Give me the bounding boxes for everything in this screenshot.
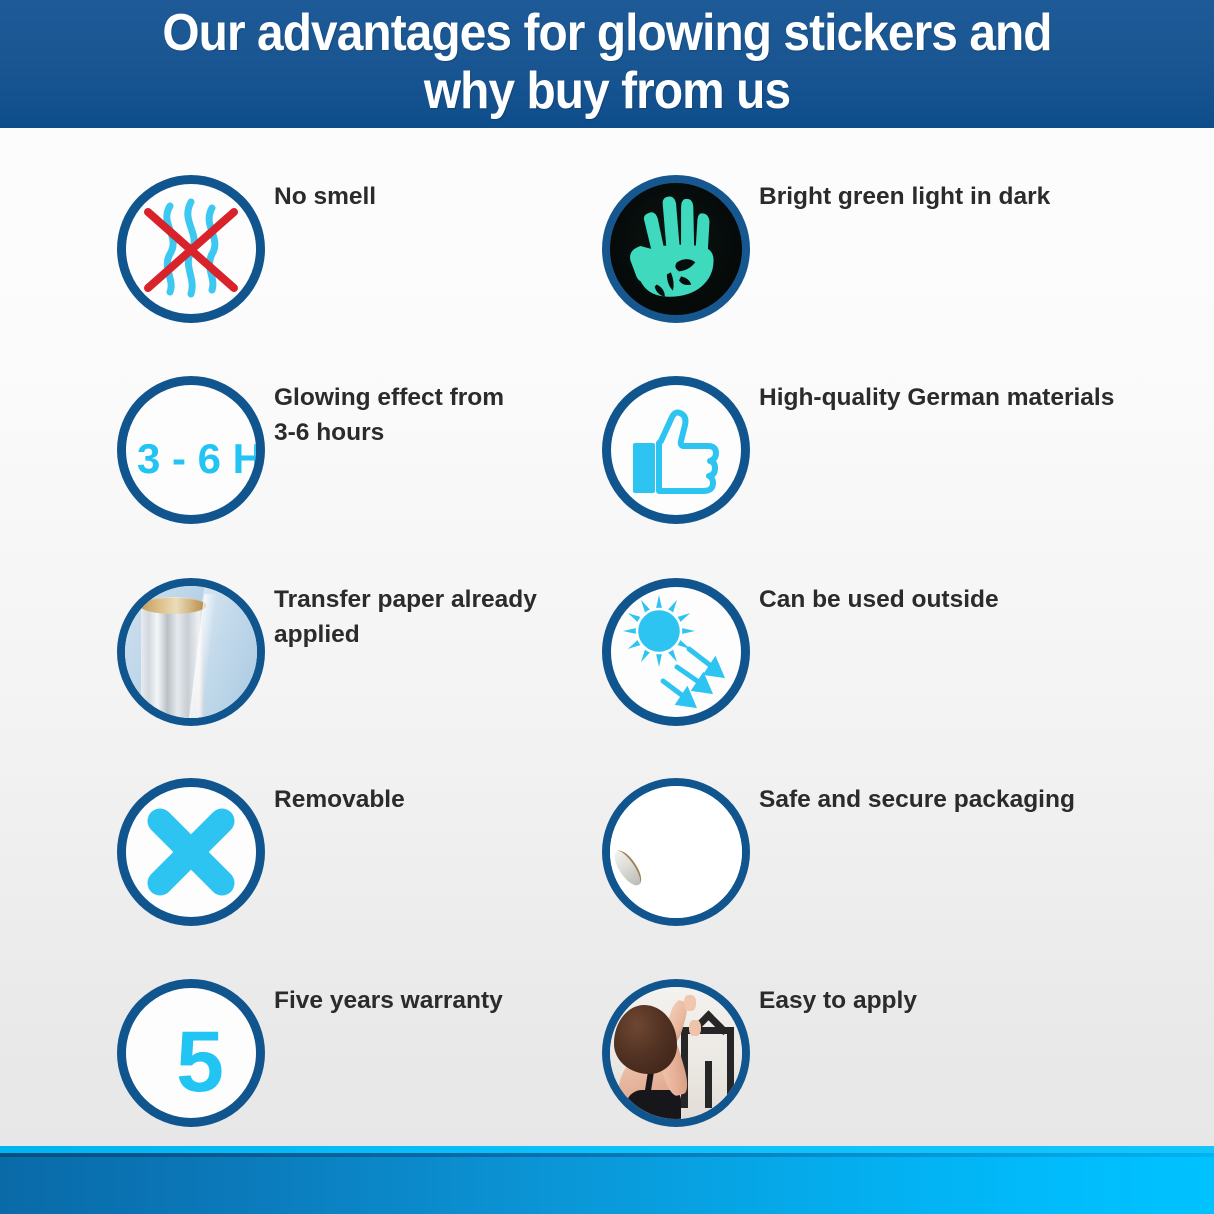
feature-label: Easy to apply	[759, 983, 1179, 1018]
feature-label: Can be used outside	[759, 582, 1179, 617]
feature-label: Bright green light in dark	[759, 179, 1179, 214]
duration-badge-text: 3 - 6 H	[120, 385, 265, 524]
feature-item-transfer-paper: Transfer paper already applied	[117, 578, 607, 782]
woman-applying-decal-photo	[602, 979, 750, 1127]
header-banner: Our advantages for glowing stickers and …	[0, 0, 1214, 128]
feature-item-glow-duration: 3 - 6 H Glowing effect from 3-6 hours	[117, 376, 607, 580]
feature-item-secure-packaging: Safe and secure packaging	[602, 778, 1092, 982]
glowing-handprint-icon	[602, 175, 750, 323]
feature-item-removable: Removable	[117, 778, 607, 982]
features-grid: No smell	[0, 128, 1214, 1146]
feature-label: High-quality German materials	[759, 380, 1179, 415]
no-smell-icon	[117, 175, 265, 323]
footer-gradient	[0, 1153, 1214, 1214]
footer-accent-line	[0, 1146, 1214, 1153]
duration-badge-icon: 3 - 6 H	[117, 376, 265, 524]
feature-item-glow-in-dark: Bright green light in dark	[602, 175, 1092, 379]
transfer-film-roll-photo	[117, 578, 265, 726]
warranty-years-badge-icon: 5	[117, 979, 265, 1127]
feature-item-outdoor-use: Can be used outside	[602, 578, 1092, 782]
mailing-tube-photo	[602, 778, 750, 926]
warranty-years-text: 5	[126, 988, 265, 1127]
sun-with-rays-icon	[602, 578, 750, 726]
feature-label: Safe and secure packaging	[759, 782, 1179, 817]
page-title: Our advantages for glowing stickers and …	[49, 4, 1166, 120]
infographic-page: Our advantages for glowing stickers and …	[0, 0, 1214, 1214]
thumbs-up-icon	[602, 376, 750, 524]
feature-item-no-smell: No smell	[117, 175, 607, 379]
footer-band	[0, 1146, 1214, 1214]
feature-item-german-materials: High-quality German materials	[602, 376, 1092, 580]
cross-x-icon	[117, 778, 265, 926]
